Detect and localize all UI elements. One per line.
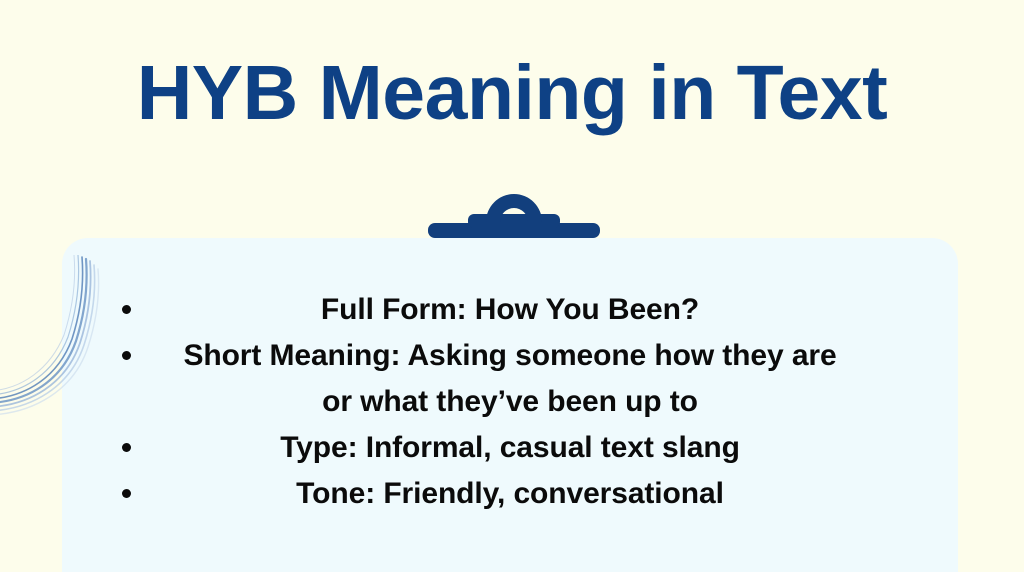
- page-title: HYB Meaning in Text: [0, 55, 1024, 132]
- bullet-marker-icon: [122, 305, 131, 314]
- slide-canvas: HYB Meaning in Text: [0, 0, 1024, 572]
- list-item: Full Form: How You Been?: [62, 287, 958, 333]
- list-item-label: Type: Informal, casual text slang: [280, 425, 740, 471]
- list-item-label: Short Meaning: Asking someone how they a…: [183, 333, 836, 379]
- list-item-label: Tone: Friendly, conversational: [296, 471, 724, 517]
- arch-divider-ornament: [428, 190, 600, 238]
- bullet-marker-icon: [122, 443, 131, 452]
- feature-bullet-list: Full Form: How You Been? Short Meaning: …: [62, 287, 958, 517]
- list-item: Short Meaning: Asking someone how they a…: [62, 333, 958, 379]
- list-item-label: or what they’ve been up to: [322, 379, 698, 425]
- bullet-marker-icon: [122, 489, 131, 498]
- list-item-continuation: or what they’ve been up to: [62, 379, 958, 425]
- list-item: Type: Informal, casual text slang: [62, 425, 958, 471]
- bullet-marker-icon: [122, 351, 131, 360]
- list-item-label: Full Form: How You Been?: [321, 287, 699, 333]
- list-item: Tone: Friendly, conversational: [62, 471, 958, 517]
